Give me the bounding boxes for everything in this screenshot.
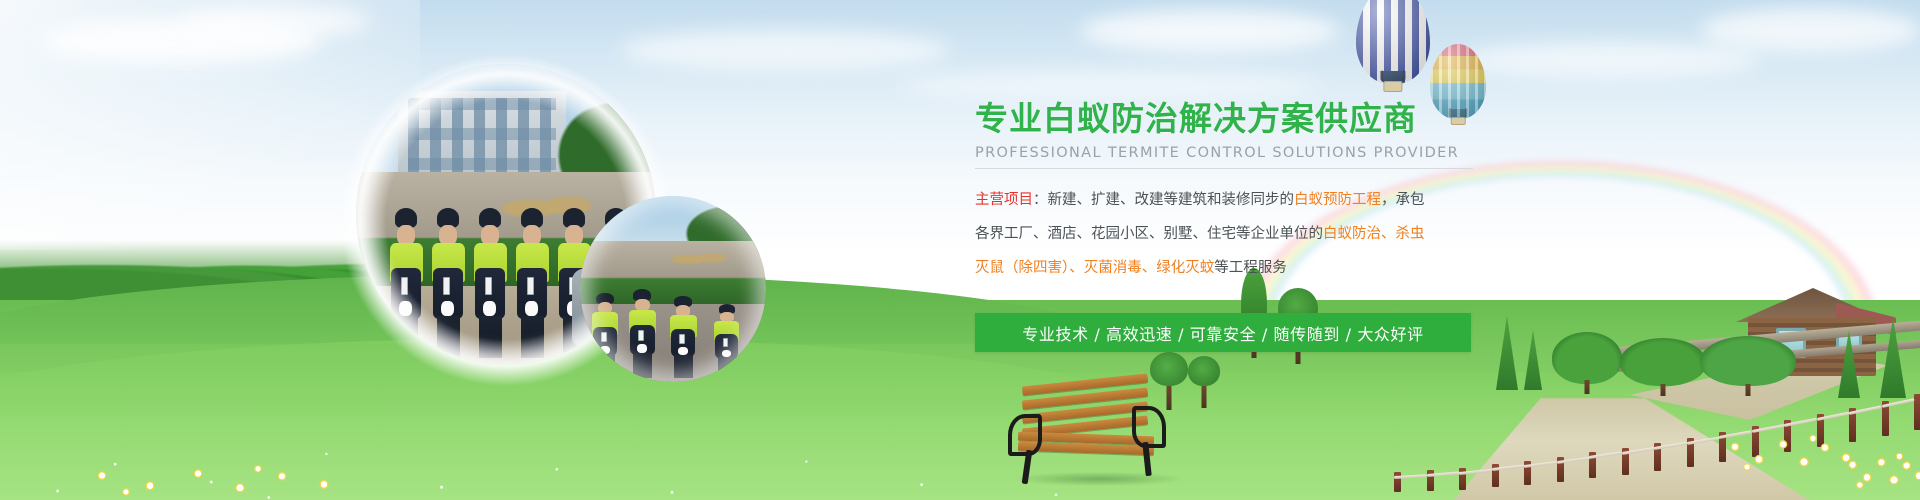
fence-rope	[1394, 474, 1427, 479]
meadow-flowers	[60, 462, 360, 496]
tagline-bar: 专业技术 / 高效迅速 / 可靠安全 / 随传随到 / 大众好评	[975, 313, 1471, 352]
meadow-flowers	[1840, 448, 1920, 490]
round-tree	[1188, 356, 1220, 408]
park-bench	[1008, 376, 1168, 488]
description-segment: ：新建、扩建、改建等建筑和装修同步的	[1033, 192, 1294, 208]
shrub-tree	[1552, 332, 1622, 394]
fence-rope	[1881, 398, 1914, 408]
conifer-tree	[1880, 318, 1906, 398]
shrub-tree	[1620, 338, 1706, 396]
conifer-tree	[1524, 330, 1542, 390]
banner-copy: 专业白蚁防治解决方案供应商 PROFESSIONAL TERMITE CONTR…	[975, 100, 1495, 285]
page-title: 专业白蚁防治解决方案供应商	[975, 100, 1495, 138]
conifer-tree	[1496, 316, 1518, 390]
description-line: 各界工厂、酒店、花园小区、别墅、住宅等企业单位的白蚁防治、杀虫	[975, 217, 1495, 251]
description-line: 灭鼠（除四害）、灭菌消毒、绿化灭蚊等工程服务	[975, 251, 1495, 285]
cloud	[1700, 8, 1920, 52]
cloud	[900, 70, 1320, 100]
team-photo-small	[580, 196, 766, 382]
description-line: 主营项目：新建、扩建、改建等建筑和装修同步的白蚁预防工程，承包	[975, 183, 1495, 217]
description-segment: 白蚁防治、杀虫	[1323, 226, 1425, 242]
conifer-tree	[1838, 330, 1860, 398]
description-segment: 各界工厂、酒店、花园小区、别墅、住宅等企业单位的	[975, 226, 1323, 242]
page-subtitle: PROFESSIONAL TERMITE CONTROL SOLUTIONS P…	[975, 145, 1473, 169]
description-segment: 主营项目	[975, 192, 1033, 208]
fence-rope	[1816, 412, 1849, 421]
cloud	[1080, 10, 1340, 52]
cloud	[180, 4, 370, 38]
description-text: 主营项目：新建、扩建、改建等建筑和装修同步的白蚁预防工程，承包各界工厂、酒店、花…	[975, 183, 1495, 285]
tagline-text: 专业技术 / 高效迅速 / 可靠安全 / 随传随到 / 大众好评	[1022, 321, 1423, 345]
shrub-tree	[1700, 336, 1796, 396]
description-segment: 灭鼠（除四害）、灭菌消毒、绿化灭蚊	[975, 260, 1214, 276]
description-segment: 白蚁预防工程	[1294, 192, 1381, 208]
hot-air-balloon-blue-icon	[1356, 0, 1430, 106]
photo-collage	[340, 54, 780, 374]
cloud	[1460, 42, 1760, 78]
description-segment: 等工程服务	[1214, 260, 1287, 276]
description-segment: ，承包	[1381, 192, 1425, 208]
fence-post	[1914, 394, 1920, 430]
hero-banner: 专业白蚁防治解决方案供应商 PROFESSIONAL TERMITE CONTR…	[0, 0, 1920, 500]
